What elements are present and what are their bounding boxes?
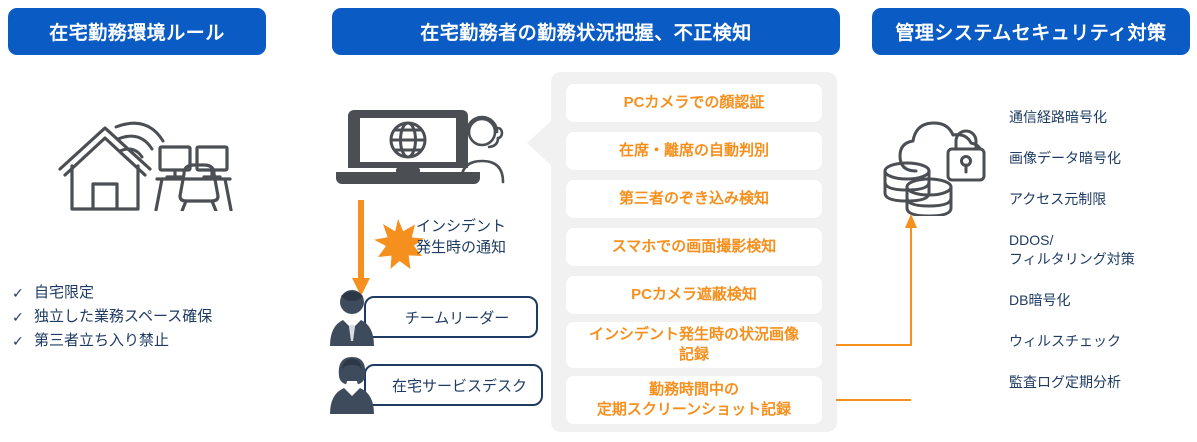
security-measure-item: 通信経路暗号化	[1009, 108, 1194, 127]
feature-card[interactable]: PCカメラでの顔認証	[566, 84, 822, 122]
security-measure-item: DB暗号化	[1009, 291, 1194, 310]
rule-label: 独立した業務スペース確保	[34, 305, 212, 329]
feature-label: PCカメラ遮蔽検知	[631, 285, 757, 305]
list-item: ✓ 自宅限定	[12, 281, 312, 305]
person-male-icon	[328, 288, 380, 346]
feature-label: スマホでの画面撮影検知	[612, 237, 777, 257]
connector-arrowhead-icon	[905, 214, 917, 228]
house-wifi-desk-icon	[34, 106, 234, 211]
feature-label: PCカメラでの顔認証	[624, 93, 765, 113]
feature-label: インシデント発生時の状況画像記録	[588, 325, 800, 365]
security-measures-list: 通信経路暗号化 画像データ暗号化 アクセス元制限 DDOS/ フィルタリング対策…	[1009, 108, 1194, 414]
headset-operator-icon	[455, 110, 515, 185]
connector-incident-image	[836, 222, 911, 345]
security-measure-item: アクセス元制限	[1009, 190, 1194, 209]
cloud-lock-database-icon	[876, 108, 994, 216]
notification-line-1: インシデント	[416, 216, 506, 237]
feature-card[interactable]: 在席・離席の自動判別	[566, 132, 822, 170]
list-item: ✓ 第三者立ち入り禁止	[12, 329, 312, 353]
role-team-leader-label: チームリーダー	[364, 296, 538, 338]
feature-label: 第三者のぞき込み検知	[619, 189, 769, 209]
feature-card[interactable]: 第三者のぞき込み検知	[566, 180, 822, 218]
check-icon: ✓	[12, 329, 26, 353]
diagram-canvas: 在宅勤務環境ルール 在宅勤務者の勤務状況把握、不正検知 管理システムセキュリティ…	[0, 0, 1197, 442]
role-service-desk: 在宅サービスデスク	[328, 356, 543, 414]
incident-notification-label: インシデント 発生時の通知	[416, 216, 506, 258]
feature-card[interactable]: 勤務時間中の 定期スクリーンショット記録	[566, 376, 822, 424]
feature-label: 勤務時間中の 定期スクリーンショット記録	[597, 380, 791, 420]
notification-line-2: 発生時の通知	[416, 237, 506, 258]
header-pill-monitoring: 在宅勤務者の勤務状況把握、不正検知	[332, 8, 840, 55]
feature-card[interactable]: インシデント発生時の状況画像記録	[566, 322, 822, 368]
security-measure-item: 監査ログ定期分析	[1009, 373, 1194, 392]
feature-card[interactable]: スマホでの画面撮影検知	[566, 228, 822, 266]
incident-down-arrow-icon	[348, 200, 374, 298]
check-icon: ✓	[12, 305, 26, 329]
rule-label: 第三者立ち入り禁止	[34, 329, 169, 353]
feature-label: 在席・離席の自動判別	[619, 141, 769, 161]
security-measure-item: 画像データ暗号化	[1009, 149, 1194, 168]
person-female-icon	[328, 356, 380, 414]
security-measure-item: DDOS/ フィルタリング対策	[1009, 231, 1194, 269]
home-rules-list: ✓ 自宅限定 ✓ 独立した業務スペース確保 ✓ 第三者立ち入り禁止	[12, 281, 312, 353]
feature-card[interactable]: PCカメラ遮蔽検知	[566, 276, 822, 314]
security-measure-item: ウィルスチェック	[1009, 332, 1194, 351]
header-pill-home-rules: 在宅勤務環境ルール	[8, 8, 266, 55]
header-pill-system-security: 管理システムセキュリティ対策	[872, 8, 1190, 55]
check-icon: ✓	[12, 281, 26, 305]
rule-label: 自宅限定	[34, 281, 94, 305]
list-item: ✓ 独立した業務スペース確保	[12, 305, 312, 329]
panel-arrow-notch	[527, 119, 553, 167]
role-team-leader: チームリーダー	[328, 288, 538, 346]
role-service-desk-label: 在宅サービスデスク	[364, 364, 543, 406]
